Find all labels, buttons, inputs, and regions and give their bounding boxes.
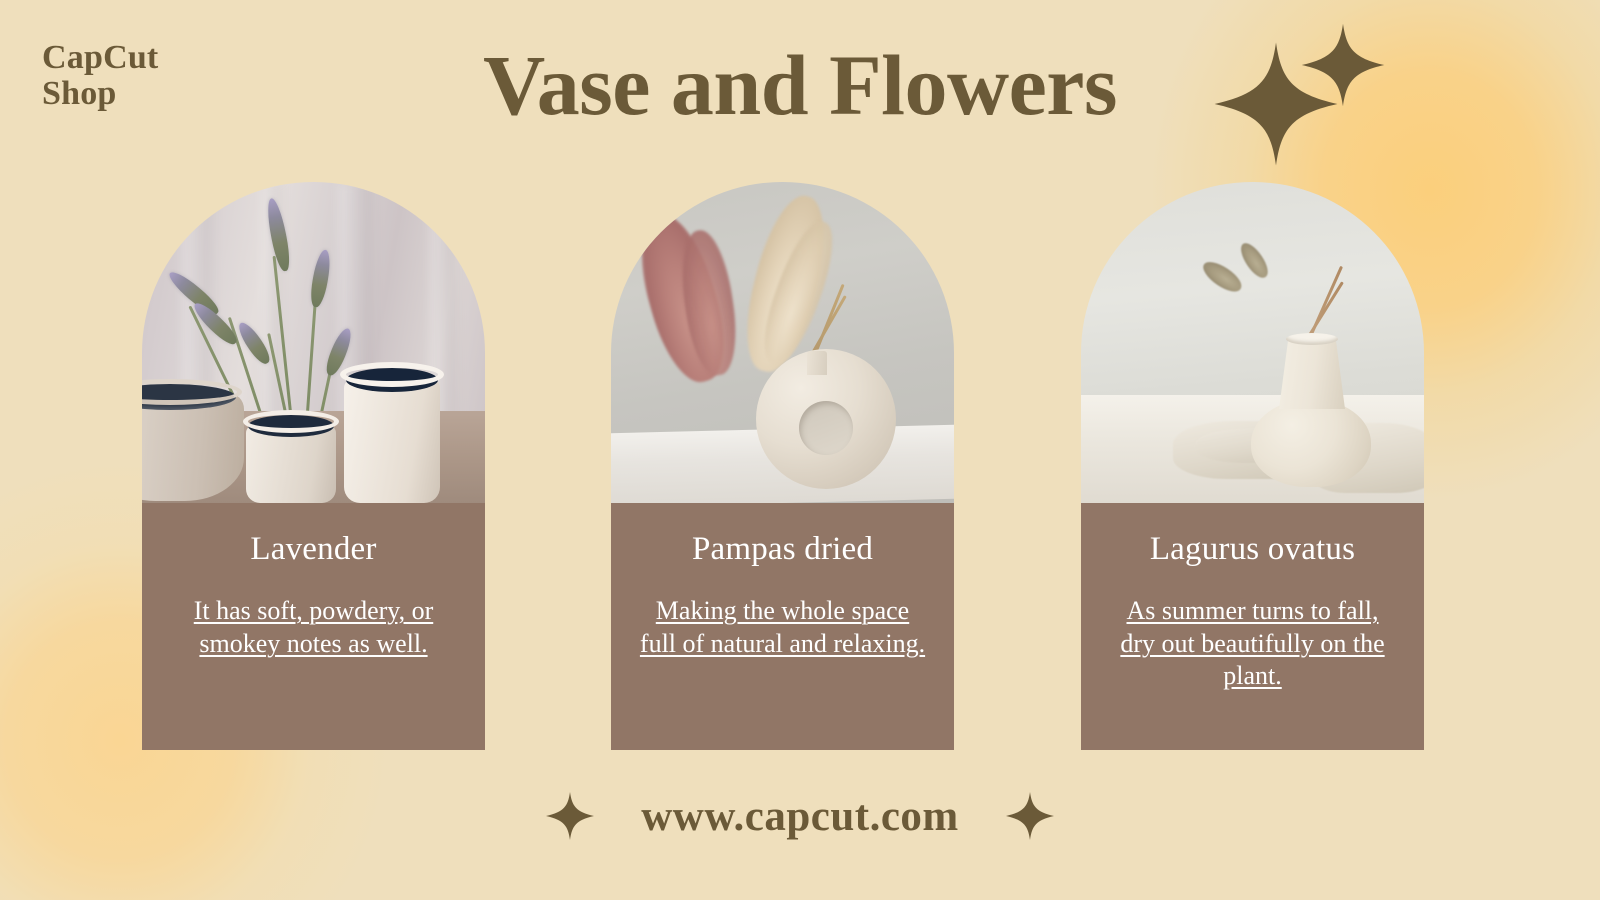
product-card-grid: Lavender It has soft, powdery, or smokey… xyxy=(0,0,1600,900)
product-card-lavender[interactable]: Lavender It has soft, powdery, or smokey… xyxy=(142,182,485,750)
card-title: Pampas dried xyxy=(623,531,942,569)
card-panel: Lavender It has soft, powdery, or smokey… xyxy=(142,503,485,750)
sparkle-icon xyxy=(545,788,595,844)
card-description: Making the whole space full of natural a… xyxy=(623,595,942,661)
sparkle-icon xyxy=(1005,788,1055,844)
card-title: Lagurus ovatus xyxy=(1093,531,1412,569)
card-image-pampas xyxy=(611,182,954,503)
card-description: As summer turns to fall, dry out beautif… xyxy=(1093,595,1412,693)
card-image-lavender xyxy=(142,182,485,503)
poster-canvas: CapCut Shop Vase and Flowers xyxy=(0,0,1600,900)
card-title: Lavender xyxy=(154,531,473,569)
card-image-lagurus xyxy=(1081,182,1424,503)
footer: www.capcut.com xyxy=(0,788,1600,844)
card-description: It has soft, powdery, or smokey notes as… xyxy=(154,595,473,661)
product-card-pampas[interactable]: Pampas dried Making the whole space full… xyxy=(611,182,954,750)
card-panel: Pampas dried Making the whole space full… xyxy=(611,503,954,750)
website-url[interactable]: www.capcut.com xyxy=(641,792,959,841)
card-panel: Lagurus ovatus As summer turns to fall, … xyxy=(1081,503,1424,750)
product-card-lagurus[interactable]: Lagurus ovatus As summer turns to fall, … xyxy=(1081,182,1424,750)
